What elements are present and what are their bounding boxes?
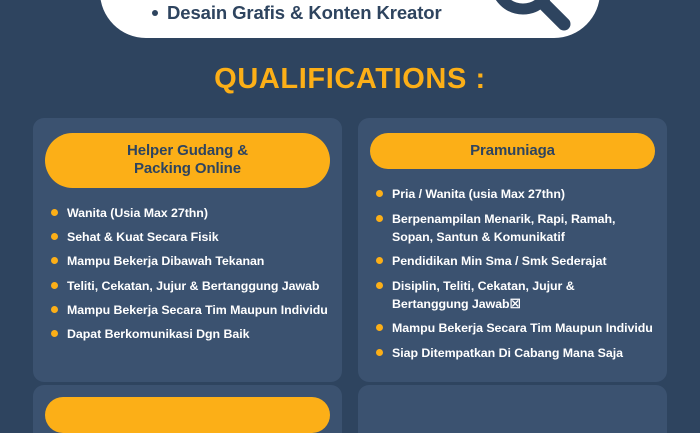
list-item-label: Teliti, Cekatan, Jujur & Bertanggung Jaw… [67,277,319,295]
list-item-label: Mampu Bekerja Dibawah Tekanan [67,252,264,270]
list-item-label: Wanita (Usia Max 27thn) [67,204,208,222]
bullet-dot-icon [376,324,383,331]
list-item-label: Mampu Bekerja Secara Tim Maupun Individu [392,319,653,337]
panel-list-item: Desain Grafis & Konten Kreator [152,2,600,24]
top-panel-content: Admin Online Shop Desain Grafis & Konten… [100,0,600,24]
card-title-pill: Pramuniaga [370,133,655,169]
qualification-cards-next-row [33,385,667,433]
card-title-line-2: Packing Online [55,160,320,178]
card-title-line-1: Helper Gudang & [55,142,320,160]
bullet-dot-icon [376,190,383,197]
bullet-dot-icon [51,209,58,216]
list-item-label: Pendidikan Min Sma / Smk Sederajat [392,252,607,270]
list-item: Disiplin, Teliti, Cekatan, Jujur & Berta… [376,277,653,314]
list-item: Pendidikan Min Sma / Smk Sederajat [376,252,653,270]
card-title-line-1: Pramuniaga [380,142,645,160]
qualification-card-helper-gudang: Helper Gudang & Packing Online Wanita (U… [33,118,342,382]
bullet-dot-icon [376,215,383,222]
qualification-cards: Helper Gudang & Packing Online Wanita (U… [33,118,667,382]
bullet-dot-icon [51,330,58,337]
page-title: QUALIFICATIONS : [0,63,700,96]
list-item-label: Dapat Berkomunikasi Dgn Baik [67,325,249,343]
list-item: Sehat & Kuat Secara Fisik [51,228,328,246]
bullet-dot-icon [376,349,383,356]
bullet-dot-icon [376,257,383,264]
qualification-card-clipped-left [33,385,342,433]
list-item: Teliti, Cekatan, Jujur & Bertanggung Jaw… [51,277,328,295]
requirement-list: Wanita (Usia Max 27thn) Sehat & Kuat Sec… [45,204,330,344]
top-info-panel: Admin Online Shop Desain Grafis & Konten… [100,0,600,38]
list-item: Mampu Bekerja Secara Tim Maupun Individu [51,301,328,319]
list-item: Berpenampilan Menarik, Rapi, Ramah, Sopa… [376,210,653,247]
bullet-dot-icon [51,233,58,240]
list-item-label: Disiplin, Teliti, Cekatan, Jujur & Berta… [392,277,653,314]
list-item: Mampu Bekerja Secara Tim Maupun Individu [376,319,653,337]
bullet-dot-icon [376,282,383,289]
qualification-card-clipped-right [358,385,667,433]
bullet-dot-icon [51,257,58,264]
requirement-list: Pria / Wanita (usia Max 27thn) Berpenamp… [370,185,655,362]
qualification-card-pramuniaga: Pramuniaga Pria / Wanita (usia Max 27thn… [358,118,667,382]
list-item: Mampu Bekerja Dibawah Tekanan [51,252,328,270]
card-title-pill [45,397,330,433]
list-item-label: Siap Ditempatkan Di Cabang Mana Saja [392,344,623,362]
card-title-pill: Helper Gudang & Packing Online [45,133,330,188]
list-item: Dapat Berkomunikasi Dgn Baik [51,325,328,343]
list-item: Pria / Wanita (usia Max 27thn) [376,185,653,203]
list-item-label: Berpenampilan Menarik, Rapi, Ramah, Sopa… [392,210,653,247]
list-item-label: Sehat & Kuat Secara Fisik [67,228,219,246]
panel-list-item-label: Desain Grafis & Konten Kreator [167,2,442,24]
list-item-label: Pria / Wanita (usia Max 27thn) [392,185,565,203]
bullet-dot-icon [51,306,58,313]
list-item: Wanita (Usia Max 27thn) [51,204,328,222]
bullet-dot-icon [152,10,158,16]
bullet-dot-icon [51,282,58,289]
list-item-label: Mampu Bekerja Secara Tim Maupun Individu [67,301,328,319]
list-item: Siap Ditempatkan Di Cabang Mana Saja [376,344,653,362]
